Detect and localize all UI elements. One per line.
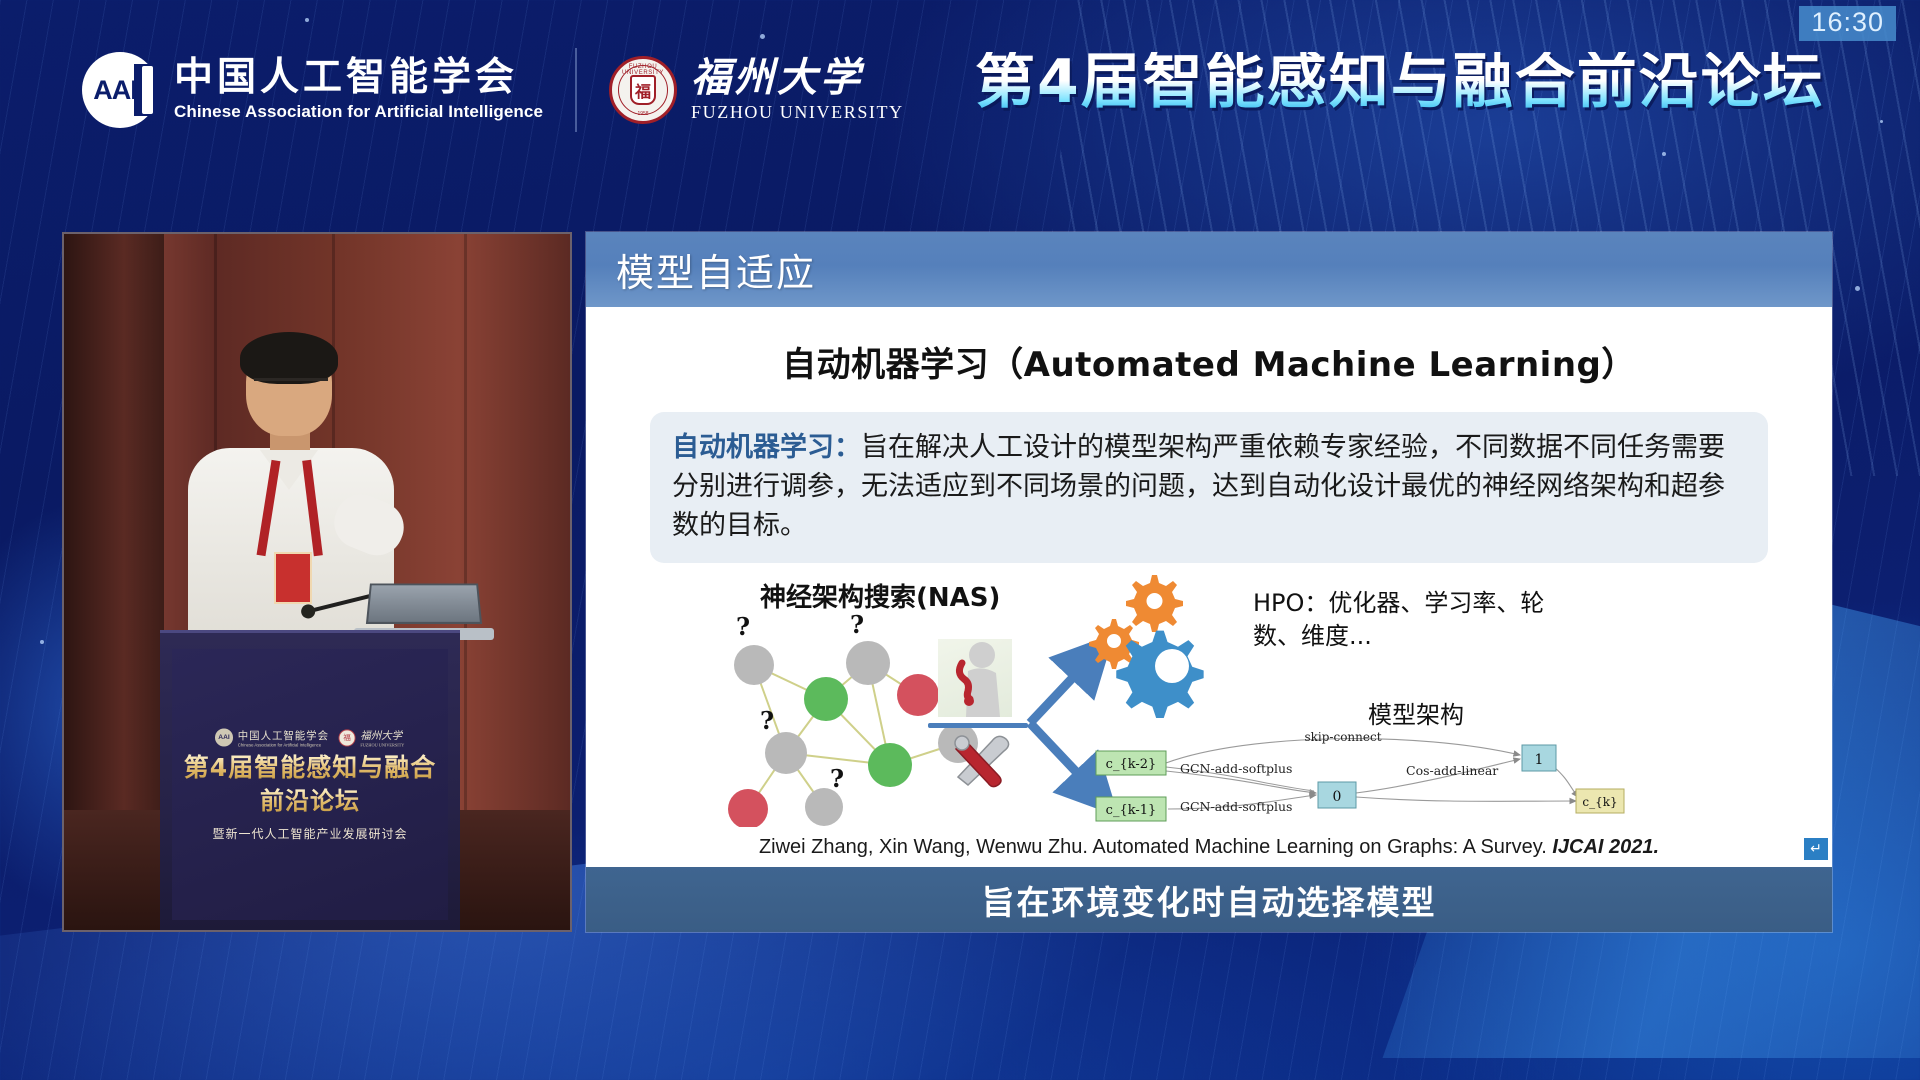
slide-footer-banner: 旨在环境变化时自动选择模型 — [586, 867, 1832, 932]
callout-label: 自动机器学习： — [672, 432, 861, 463]
seal-year: 1958 — [612, 111, 674, 117]
arch-node-upper: 1 — [1535, 752, 1544, 768]
podium-caai-cn: 中国人工智能学会 — [238, 728, 329, 743]
definition-callout: 自动机器学习：旨在解决人工设计的模型架构严重依赖专家经验，不同数据不同任务需要分… — [650, 412, 1768, 563]
svg-text:?: ? — [760, 706, 774, 735]
model-architecture-label: 模型架构 — [1368, 695, 1464, 730]
time-badge: 16:30 — [1799, 6, 1896, 41]
podium-title-line2: 前沿论坛 — [260, 788, 360, 814]
fzu-name-cn: 福州大学 — [691, 58, 904, 98]
forum-title: 第4届智能感知与融合前沿论坛 — [975, 52, 1825, 112]
arch-edge-gcn-bottom: GCN-add-softplus — [1180, 799, 1292, 814]
podium-fzu-seal-icon: 福 — [339, 729, 356, 746]
slide-body: 自动机器学习（Automated Machine Learning） 自动机器学… — [586, 307, 1832, 867]
svg-text:?: ? — [736, 612, 750, 641]
citation: Ziwei Zhang, Xin Wang, Wenwu Zhu. Automa… — [586, 836, 1832, 867]
return-icon[interactable]: ↵ — [1804, 838, 1828, 860]
caai-mark-letters: AAI — [82, 52, 158, 128]
caai-logo: AAI 中国人工智能学会 Chinese Association for Art… — [82, 52, 543, 128]
caai-name-cn: 中国人工智能学会 — [174, 58, 543, 99]
citation-text: Ziwei Zhang, Xin Wang, Wenwu Zhu. Automa… — [759, 836, 1552, 858]
slide-title-bar: 模型自适应 — [586, 232, 1832, 307]
automl-diagram: 神经架构搜索(NAS) — [608, 577, 1810, 845]
slide-title: 模型自适应 — [616, 242, 816, 297]
arch-edge-skip: skip-connect — [1304, 730, 1381, 744]
citation-venue: IJCAI 2021. — [1552, 836, 1659, 858]
svg-text:?: ? — [850, 610, 864, 639]
caai-text: 中国人工智能学会 Chinese Association for Artific… — [174, 58, 543, 122]
caai-name-en: Chinese Association for Artificial Intel… — [174, 102, 543, 122]
hpo-label: HPO：优化器、学习率、轮数、维度... — [1253, 587, 1583, 652]
podium-sign-logos: AAI 中国人工智能学会 Chinese Association for Art… — [215, 728, 404, 748]
arch-node-mid: 0 — [1333, 789, 1342, 805]
slide-footer-text: 旨在环境变化时自动选择模型 — [982, 876, 1437, 924]
logo-divider — [575, 48, 577, 132]
podium-subtitle: 暨新一代人工智能产业发展研讨会 — [212, 825, 407, 842]
podium-fzu-en: FUZHOU UNIVERSITY — [361, 743, 405, 748]
fuzhou-university-logo: FUZHOU UNIVERSITY 福 1958 福州大学 FUZHOU UNI… — [609, 56, 904, 124]
arch-node-output: c_{k} — [1582, 795, 1617, 809]
arch-node-input-bottom: c_{k-1} — [1106, 803, 1157, 818]
architecture-cell-graph: c_{k-2} c_{k-1} 0 1 c_{k} skip-connect G… — [1088, 727, 1628, 837]
arch-edge-cos: Cos-add-linear — [1406, 763, 1498, 778]
presentation-slide[interactable]: 模型自适应 自动机器学习（Automated Machine Learning）… — [586, 232, 1832, 932]
arch-edge-gcn-top: GCN-add-softplus — [1180, 761, 1292, 776]
podium-title-line1: 第4届智能感知与融合 — [184, 754, 436, 782]
thinking-person-icon — [938, 639, 1012, 717]
arch-node-input-top: c_{k-2} — [1106, 757, 1157, 772]
speaker-badge — [274, 552, 312, 604]
podium-fzu-cn: 福州大学 — [361, 728, 405, 743]
logo-group: AAI 中国人工智能学会 Chinese Association for Art… — [82, 48, 904, 132]
page-header: AAI 中国人工智能学会 Chinese Association for Art… — [0, 0, 1920, 180]
fzu-name-en: FUZHOU UNIVERSITY — [691, 102, 904, 123]
podium-caai-logo: AAI 中国人工智能学会 Chinese Association for Art… — [215, 728, 329, 748]
speaker-video-panel[interactable]: AAI 中国人工智能学会 Chinese Association for Art… — [62, 232, 572, 932]
podium: AAI 中国人工智能学会 Chinese Association for Art… — [160, 630, 460, 930]
fzu-text: 福州大学 FUZHOU UNIVERSITY — [691, 58, 904, 123]
glasses-icon — [254, 378, 328, 394]
gears-illustration — [1048, 571, 1238, 721]
podium-fzu-logo: 福 福州大学 FUZHOU UNIVERSITY — [339, 728, 405, 748]
podium-sign: AAI 中国人工智能学会 Chinese Association for Art… — [172, 649, 448, 920]
seal-top-text: FUZHOU UNIVERSITY — [612, 64, 674, 76]
slide-heading: 自动机器学习（Automated Machine Learning） — [608, 337, 1810, 386]
podium-caai-en: Chinese Association for Artificial Intel… — [238, 743, 329, 748]
fuzhou-university-seal-icon: FUZHOU UNIVERSITY 福 1958 — [609, 56, 677, 124]
svg-text:?: ? — [830, 764, 844, 793]
caai-logo-mark-icon: AAI — [82, 52, 158, 128]
podium-caai-mark-icon: AAI — [215, 729, 233, 747]
